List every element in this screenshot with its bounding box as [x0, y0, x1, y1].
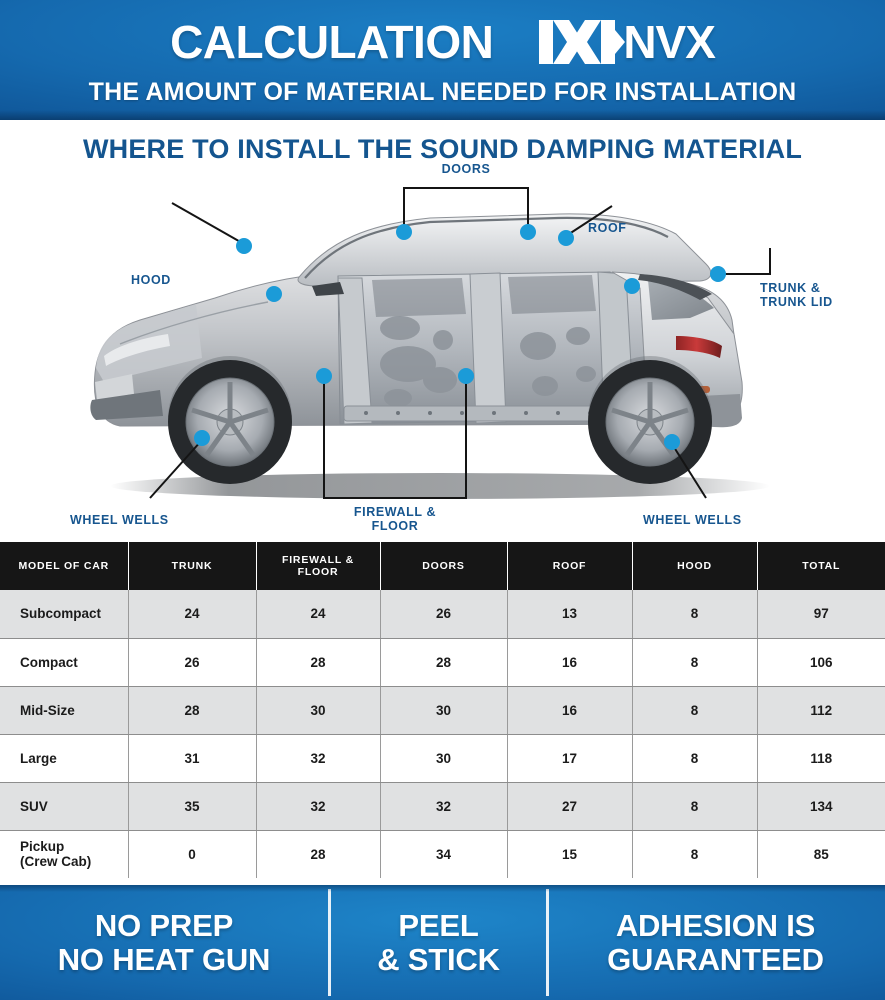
cell-doors: 34: [380, 830, 507, 878]
dot-front-wheel-well: [266, 286, 282, 302]
dot-roof: [558, 230, 574, 246]
footer-panel-3-line1: ADHESION IS: [616, 908, 815, 943]
footer-panel-3-line2: GUARANTEED: [607, 942, 824, 977]
cell-roof: 27: [507, 782, 632, 830]
table-body: Subcompact 24 24 26 13 8 97 Compact 26 2…: [0, 590, 885, 878]
label-firewall-floor: FIREWALL & FLOOR: [324, 505, 466, 533]
cell-firewall: 28: [256, 638, 380, 686]
footer-panel-adhesion: ADHESION IS GUARANTEED: [549, 885, 882, 1000]
rear-wheel: [588, 360, 712, 484]
label-trunk-line2: TRUNK LID: [760, 295, 833, 309]
vehicle-diagram-svg: [0, 168, 885, 542]
dot-door-front: [396, 224, 412, 240]
cell-total: 97: [757, 590, 885, 638]
cell-trunk: 0: [128, 830, 256, 878]
label-firewall-line2: FLOOR: [372, 519, 419, 533]
footer-panel-1-line1: NO PREP: [95, 908, 233, 943]
table-row: Pickup(Crew Cab) 0 28 34 15 8 85: [0, 830, 885, 878]
cell-roof: 17: [507, 734, 632, 782]
cell-total: 106: [757, 638, 885, 686]
cell-hood: 8: [632, 830, 757, 878]
cell-total: 134: [757, 782, 885, 830]
table-row: Mid-Size 28 30 30 16 8 112: [0, 686, 885, 734]
cell-model: Pickup(Crew Cab): [0, 830, 128, 878]
col-header-model: MODEL OF CAR: [0, 542, 128, 590]
label-trunk: TRUNK & TRUNK LID: [760, 281, 833, 309]
dot-trunk: [710, 266, 726, 282]
footer-panel-1-line2: NO HEAT GUN: [58, 942, 271, 977]
vehicle-diagram: HOOD DOORS ROOF TRUNK & TRUNK LID WHEEL …: [0, 168, 885, 542]
table-row: SUV 35 32 32 27 8 134: [0, 782, 885, 830]
header-subtitle: THE AMOUNT OF MATERIAL NEEDED FOR INSTAL…: [0, 78, 885, 107]
cell-doors: 28: [380, 638, 507, 686]
cell-model: Mid-Size: [0, 686, 128, 734]
cell-total: 112: [757, 686, 885, 734]
col-header-firewall: FIREWALL &FLOOR: [256, 542, 380, 590]
page-title: CALCULATION: [170, 17, 493, 67]
cell-roof: 16: [507, 638, 632, 686]
cell-trunk: 24: [128, 590, 256, 638]
dot-wheel-well-right: [664, 434, 680, 450]
label-trunk-line1: TRUNK &: [760, 281, 820, 295]
page-header: CALCULATION NVX THE AMOUNT OF MATERIAL N…: [0, 0, 885, 120]
cell-trunk: 26: [128, 638, 256, 686]
cell-trunk: 28: [128, 686, 256, 734]
label-wheel-wells-right: WHEEL WELLS: [643, 513, 742, 527]
header-top-row: CALCULATION NVX: [0, 14, 885, 70]
table-head: MODEL OF CAR TRUNK FIREWALL &FLOOR DOORS…: [0, 542, 885, 590]
cell-total: 118: [757, 734, 885, 782]
label-doors: DOORS: [404, 162, 528, 176]
section-title: WHERE TO INSTALL THE SOUND DAMPING MATER…: [0, 134, 885, 165]
cell-model: Subcompact: [0, 590, 128, 638]
cell-firewall: 24: [256, 590, 380, 638]
table-row: Compact 26 28 28 16 8 106: [0, 638, 885, 686]
cell-roof: 15: [507, 830, 632, 878]
page-footer: NO PREP NO HEAT GUN PEEL & STICK ADHESIO…: [0, 885, 885, 1000]
cell-firewall: 28: [256, 830, 380, 878]
cell-total: 85: [757, 830, 885, 878]
diagram-section: WHERE TO INSTALL THE SOUND DAMPING MATER…: [0, 120, 885, 542]
label-wheel-wells-left: WHEEL WELLS: [70, 513, 169, 527]
cell-hood: 8: [632, 590, 757, 638]
brand-logo-text: NVX: [623, 19, 715, 65]
cell-roof: 13: [507, 590, 632, 638]
cell-hood: 8: [632, 782, 757, 830]
col-header-trunk: TRUNK: [128, 542, 256, 590]
cell-firewall: 32: [256, 734, 380, 782]
cell-doors: 32: [380, 782, 507, 830]
col-header-doors: DOORS: [380, 542, 507, 590]
dot-rear-quarter: [624, 278, 640, 294]
col-header-roof: ROOF: [507, 542, 632, 590]
dot-floor: [458, 368, 474, 384]
label-hood: HOOD: [131, 273, 171, 287]
table-header-row: MODEL OF CAR TRUNK FIREWALL &FLOOR DOORS…: [0, 542, 885, 590]
footer-panel-2-line1: PEEL: [398, 908, 478, 943]
col-header-hood: HOOD: [632, 542, 757, 590]
footer-panel-2-line2: & STICK: [377, 942, 500, 977]
cell-firewall: 32: [256, 782, 380, 830]
cell-hood: 8: [632, 734, 757, 782]
infographic-page: CALCULATION NVX THE AMOUNT OF MATERIAL N…: [0, 0, 885, 1000]
cell-trunk: 35: [128, 782, 256, 830]
cell-hood: 8: [632, 686, 757, 734]
dot-door-rear: [520, 224, 536, 240]
dot-firewall: [316, 368, 332, 384]
xs-chevron-logo-icon: [539, 20, 625, 64]
dot-wheel-well-left: [194, 430, 210, 446]
footer-panel-no-prep: NO PREP NO HEAT GUN: [0, 885, 328, 1000]
col-header-total: TOTAL: [757, 542, 885, 590]
brand-logo: NVX: [539, 19, 715, 65]
cell-model: Compact: [0, 638, 128, 686]
cell-trunk: 31: [128, 734, 256, 782]
cell-doors: 30: [380, 734, 507, 782]
cell-model: Large: [0, 734, 128, 782]
dot-hood: [236, 238, 252, 254]
cell-doors: 26: [380, 590, 507, 638]
label-roof: ROOF: [588, 221, 627, 235]
cell-firewall: 30: [256, 686, 380, 734]
front-wheel: [168, 360, 292, 484]
cell-hood: 8: [632, 638, 757, 686]
cell-model: SUV: [0, 782, 128, 830]
cell-roof: 16: [507, 686, 632, 734]
footer-panel-peel-stick: PEEL & STICK: [331, 885, 546, 1000]
label-firewall-line1: FIREWALL &: [354, 505, 436, 519]
material-table: MODEL OF CAR TRUNK FIREWALL &FLOOR DOORS…: [0, 542, 885, 878]
table-row: Large 31 32 30 17 8 118: [0, 734, 885, 782]
cell-doors: 30: [380, 686, 507, 734]
material-table-container: MODEL OF CAR TRUNK FIREWALL &FLOOR DOORS…: [0, 542, 885, 885]
table-row: Subcompact 24 24 26 13 8 97: [0, 590, 885, 638]
